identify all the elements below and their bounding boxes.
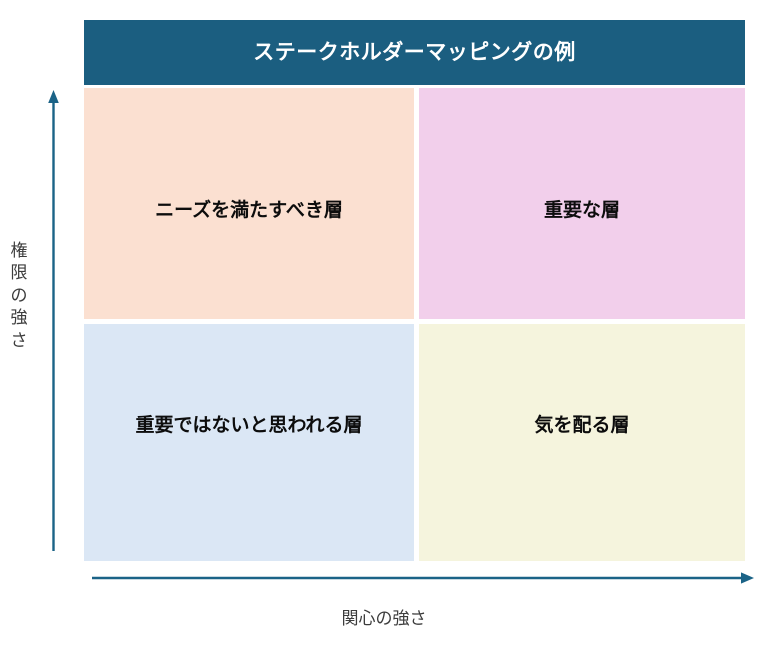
- quadrant-matrix: ニーズを満たすべき層 重要な層 重要ではないと思われる層 気を配る層: [84, 88, 745, 561]
- quadrant-bottom-right-label: 気を配る層: [534, 414, 629, 439]
- x-axis-label: 関心の強さ: [0, 604, 768, 629]
- quadrant-bottom-left: 重要ではないと思われる層: [84, 324, 414, 561]
- x-axis-arrow-icon: [86, 564, 758, 592]
- y-axis-arrow-icon: [40, 86, 68, 551]
- quadrant-top-left: ニーズを満たすべき層: [84, 88, 414, 319]
- quadrant-top-right: 重要な層: [419, 88, 745, 319]
- y-axis-label-char-3: の: [6, 285, 32, 307]
- quadrant-bottom-left-label: 重要ではないと思われる層: [135, 414, 362, 439]
- quadrant-bottom-right: 気を配る層: [419, 324, 745, 561]
- y-axis-label-char-4: 強: [6, 307, 32, 329]
- diagram-title-bar: ステークホルダーマッピングの例: [84, 20, 745, 85]
- quadrant-top-right-label: 重要な層: [544, 199, 620, 224]
- stakeholder-mapping-diagram: ステークホルダーマッピングの例 ニーズを満たすべき層 重要な層 重要ではないと思…: [0, 0, 768, 656]
- y-axis-label-char-2: 限: [6, 262, 32, 284]
- y-axis-label-char-5: さ: [6, 330, 32, 352]
- y-axis-label-char-1: 権: [6, 240, 32, 262]
- x-axis-label-text: 関心の強さ: [342, 609, 427, 628]
- quadrant-top-left-label: ニーズを満たすべき層: [155, 199, 343, 224]
- y-axis-label: 権 限 の 強 さ: [6, 240, 32, 352]
- diagram-title: ステークホルダーマッピングの例: [253, 42, 576, 63]
